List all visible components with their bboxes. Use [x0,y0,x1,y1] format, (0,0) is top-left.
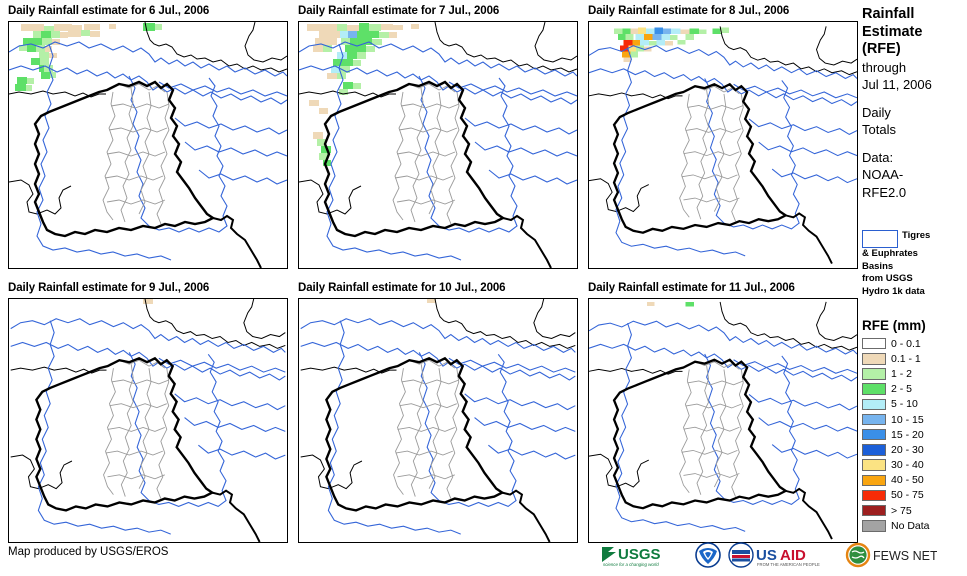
admin-boundaries [680,362,744,497]
info-title-line1: Rainfall [862,6,967,24]
rfe-class-label: 15 - 20 [891,429,924,441]
rain-cells [647,302,694,307]
map-panel-10-jul: Daily Rainfall estimate for 10 Jul., 200… [298,281,578,296]
coastline-gulf [786,213,832,263]
rfe-legend-row: 30 - 40 [862,458,967,473]
map-panel-7-jul: Daily Rainfall estimate for 7 Jul., 2006 [298,4,578,19]
rfe-class-label: 1 - 2 [891,368,912,380]
rfe-legend-row: 40 - 50 [862,473,967,488]
panel-title: Daily Rainfall estimate for 8 Jul., 2006 [588,4,868,19]
panel-title: Daily Rainfall estimate for 6 Jul., 2006 [8,4,288,19]
admin-boundaries [104,360,169,498]
rfe-color-swatch [862,353,886,365]
map-credit: Map produced by USGS/EROS [8,546,168,558]
basin-line5: Hydro 1k data [862,286,967,299]
iraq-border [35,82,213,236]
rfe-legend-row: 20 - 30 [862,442,967,457]
svg-text:FEWS NET: FEWS NET [873,549,937,563]
usgs-logo[interactable]: USGS science for a changing world [600,542,688,568]
svg-text:FROM THE AMERICAN PEOPLE: FROM THE AMERICAN PEOPLE [757,562,820,567]
iraq-border [614,84,786,232]
info-totals-line2: Totals [862,121,967,139]
map-canvas-7-jul[interactable] [298,21,578,269]
rfe-legend-row: 10 - 15 [862,412,967,427]
rfe-legend-row: > 75 [862,503,967,518]
svg-text:USGS: USGS [618,546,661,563]
coastline-gulf [212,491,259,542]
map-panel-8-jul: Daily Rainfall estimate for 8 Jul., 2006 [588,4,868,19]
info-title-line3: (RFE) [862,41,967,59]
info-through-date: Jul 11, 2006 [862,76,967,94]
rfe-class-label: > 75 [891,505,912,517]
map-canvas-8-jul[interactable] [588,21,858,269]
panel-title: Daily Rainfall estimate for 10 Jul., 200… [298,281,578,296]
basin-legend: Tigres & Euphrates Basins from USGS Hydr… [862,230,967,298]
rfe-color-swatch [862,505,886,517]
noaa-logo[interactable] [695,542,721,568]
rfe-class-label: 5 - 10 [891,398,918,410]
admin-boundaries [394,360,459,498]
rfe-class-label: 50 - 75 [891,489,924,501]
map-panel-6-jul: Daily Rainfall estimate for 6 Jul., 2006 [8,4,288,19]
rfe-class-label: 0.1 - 1 [891,353,921,365]
map-panel-11-jul: Daily Rainfall estimate for 11 Jul., 200… [588,281,868,296]
rfe-legend-title: RFE (mm) [862,318,967,333]
coastline-gulf [503,216,551,268]
admin-boundaries [103,84,169,224]
info-totals-line1: Daily [862,104,967,122]
map-panel-9-jul: Daily Rainfall estimate for 9 Jul., 2006 [8,281,288,296]
rfe-class-label: 30 - 40 [891,459,924,471]
svg-text:science for a changing world: science for a changing world [603,562,659,567]
rfe-legend-row: 50 - 75 [862,488,967,503]
rfe-legend-rows: 0 - 0.10.1 - 11 - 22 - 55 - 1010 - 1515 … [862,336,967,533]
rfe-legend-row: 0.1 - 1 [862,351,967,366]
partner-logos: USGS science for a changing world US AID… [600,540,937,570]
map-canvas-9-jul[interactable] [8,298,288,543]
rfe-class-label: 10 - 15 [891,414,924,426]
coastline-gulf [502,491,549,542]
rfe-color-swatch [862,383,886,395]
rfe-color-swatch [862,475,886,487]
rfe-legend-row: 5 - 10 [862,397,967,412]
rfe-color-swatch [862,444,886,456]
rfe-color-swatch [862,459,886,471]
coastline-gulf [786,489,832,539]
rain-cells [15,23,162,91]
rfe-legend-row: 0 - 0.1 [862,336,967,351]
panel-title: Daily Rainfall estimate for 11 Jul., 200… [588,281,868,296]
rfe-legend-row: 1 - 2 [862,366,967,381]
rfe-class-label: 0 - 0.1 [891,338,921,350]
rfe-class-label: No Data [891,520,930,532]
info-title-line2: Estimate [862,24,967,42]
info-data-label: Data: [862,149,967,167]
basin-swatch-label: Tigres [902,230,930,242]
rfe-color-swatch [862,490,886,502]
rfe-color-swatch [862,414,886,426]
iraq-border [326,358,502,510]
rfe-color-swatch [862,368,886,380]
admin-boundaries [393,84,459,224]
panel-title: Daily Rainfall estimate for 7 Jul., 2006 [298,4,578,19]
rfe-legend-row: No Data [862,518,967,533]
rfe-class-label: 20 - 30 [891,444,924,456]
rain-cells [614,27,729,62]
fews-net-logo[interactable]: FEWS NET [845,542,937,568]
rain-cells [143,299,153,304]
rfe-color-swatch [862,338,886,350]
rfe-color-swatch [862,399,886,411]
info-through: through [862,59,967,77]
map-canvas-11-jul[interactable] [588,298,858,543]
iraq-border [325,82,503,236]
admin-boundaries [680,86,744,221]
rfe-class-label: 2 - 5 [891,383,912,395]
info-panel: Rainfall Estimate (RFE) through Jul 11, … [862,6,967,201]
basin-line3: Basins [862,261,967,274]
panel-title: Daily Rainfall estimate for 9 Jul., 2006 [8,281,288,296]
coastline-gulf [213,216,261,268]
basin-line2: & Euphrates [862,248,967,261]
rfe-legend-row: 15 - 20 [862,427,967,442]
rfe-color-swatch [862,429,886,441]
usaid-logo[interactable]: US AID FROM THE AMERICAN PEOPLE [728,542,838,568]
iraq-border [36,358,212,510]
rfe-color-swatch [862,520,886,532]
rfe-legend: RFE (mm) 0 - 0.10.1 - 11 - 22 - 55 - 101… [862,318,967,533]
basin-line4: from USGS [862,273,967,286]
info-data-line1: NOAA- [862,166,967,184]
info-data-line2: RFE2.0 [862,184,967,202]
map-canvas-10-jul[interactable] [298,298,578,543]
rfe-class-label: 40 - 50 [891,474,924,486]
iraq-border [614,360,786,508]
map-canvas-6-jul[interactable] [8,21,288,269]
rfe-legend-row: 2 - 5 [862,382,967,397]
basin-outline-swatch [862,230,898,248]
